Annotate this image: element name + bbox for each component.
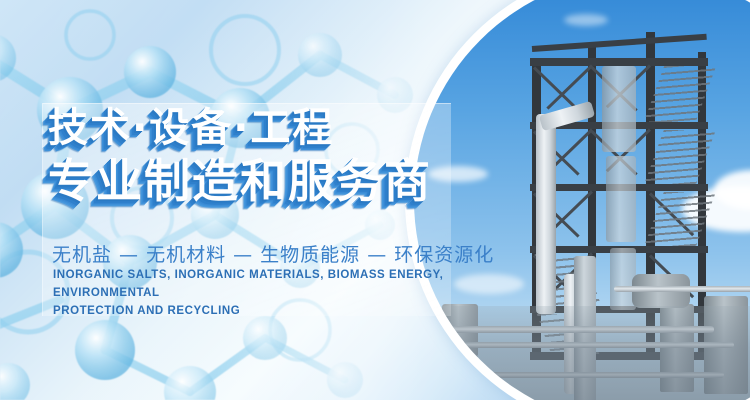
process-vessel [606, 156, 636, 242]
subtitle-english-line-2: PROTECTION AND RECYCLING [53, 302, 453, 320]
plant-ground-area [414, 306, 750, 400]
cloud [564, 14, 608, 26]
tower-roof-beam [532, 34, 707, 52]
pipe-rack [614, 286, 750, 292]
subtitle-english: INORGANIC SALTS, INORGANIC MATERIALS, BI… [53, 266, 453, 320]
headline-line-1: 技术·设备·工程 [48, 108, 468, 148]
subtitle-chinese: 无机盐 — 无机材料 — 生物质能源 — 环保资源化 [52, 240, 494, 267]
process-vessel [602, 66, 636, 152]
cloud [454, 274, 524, 294]
vertical-duct [536, 114, 556, 314]
hero-banner: 技术·设备·工程 专业制造和服务商 无机盐 — 无机材料 — 生物质能源 — 环… [0, 0, 750, 400]
tower-beam [530, 58, 708, 66]
headline-group: 技术·设备·工程 专业制造和服务商 [48, 108, 468, 204]
subtitle-english-line-1: INORGANIC SALTS, INORGANIC MATERIALS, BI… [53, 266, 453, 302]
headline-line-2: 专业制造和服务商 [48, 158, 468, 204]
